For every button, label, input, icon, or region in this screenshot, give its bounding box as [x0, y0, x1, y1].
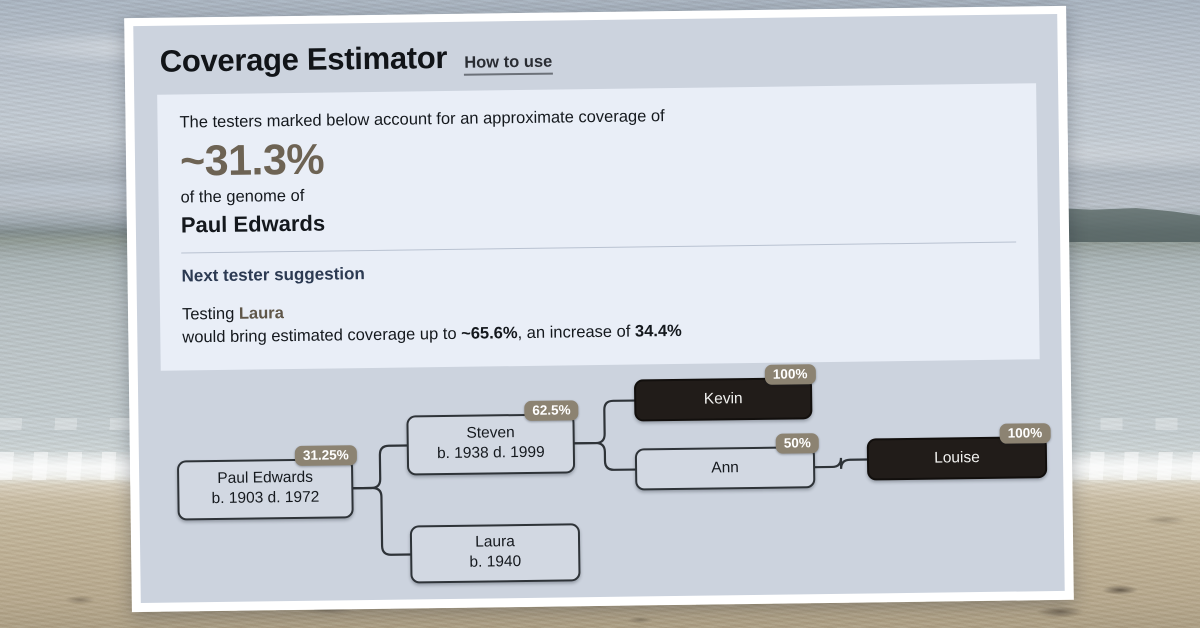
coverage-info-panel: The testers marked below account for an …: [157, 83, 1040, 371]
tree-node-name: Steven: [466, 423, 515, 443]
suggestion-mid-text: , an increase of: [517, 323, 630, 342]
tree-edge: [353, 445, 408, 488]
coverage-badge-kevin[interactable]: 100%: [765, 364, 816, 385]
next-tester-suggestion-body: Testing Laura would bring estimated cove…: [182, 292, 1018, 350]
subject-name: Paul Edwards: [181, 201, 1016, 238]
suggestion-increase: 34.4%: [635, 322, 682, 341]
tree-node-dates: b. 1938 d. 1999: [437, 442, 545, 464]
tree-edge: [815, 457, 867, 469]
tree-edge: [353, 487, 410, 555]
coverage-badge-paul[interactable]: 31.25%: [295, 445, 357, 466]
tree-node-dates: b. 1903 d. 1972: [211, 487, 319, 509]
coverage-badge-steven[interactable]: 62.5%: [524, 400, 579, 421]
tree-node-name: Kevin: [704, 389, 743, 409]
coverage-estimator-card: Coverage Estimator How to use The tester…: [124, 6, 1074, 612]
coverage-percent-value: ~31.3%: [180, 127, 1016, 186]
suggestion-testing-prefix: Testing: [182, 304, 235, 323]
how-to-use-link[interactable]: How to use: [464, 54, 552, 76]
suggestion-person-name: Laura: [239, 304, 284, 323]
tree-node-name: Louise: [934, 448, 980, 468]
tree-node-name: Ann: [711, 458, 739, 478]
tree-node-steven[interactable]: Stevenb. 1938 d. 1999: [406, 413, 575, 475]
tree-node-name: Laura: [475, 532, 515, 552]
family-tree: Paul Edwardsb. 1903 d. 197231.25%Stevenb…: [138, 364, 1065, 603]
coverage-badge-louise[interactable]: 100%: [1000, 423, 1051, 444]
tree-node-paul[interactable]: Paul Edwardsb. 1903 d. 1972: [177, 458, 354, 520]
card-header: Coverage Estimator How to use: [133, 14, 1058, 80]
page-title: Coverage Estimator: [160, 42, 448, 77]
card-body: Coverage Estimator How to use The tester…: [133, 14, 1064, 603]
panel-divider: [181, 242, 1016, 254]
card-white-frame: Coverage Estimator How to use The tester…: [124, 6, 1074, 612]
tree-node-laura[interactable]: Laurab. 1940: [410, 523, 581, 583]
screenshot-root: Coverage Estimator How to use The tester…: [0, 0, 1200, 628]
tree-edge: [575, 442, 635, 470]
next-tester-suggestion-title: Next tester suggestion: [181, 256, 1016, 287]
suggestion-new-coverage: ~65.6%: [461, 324, 518, 343]
coverage-badge-ann[interactable]: 50%: [776, 433, 819, 454]
suggestion-line-prefix: would bring estimated coverage up to: [182, 325, 456, 347]
tree-node-dates: b. 1940: [469, 552, 521, 574]
tree-node-name: Paul Edwards: [217, 468, 313, 489]
tree-edge: [574, 400, 635, 443]
